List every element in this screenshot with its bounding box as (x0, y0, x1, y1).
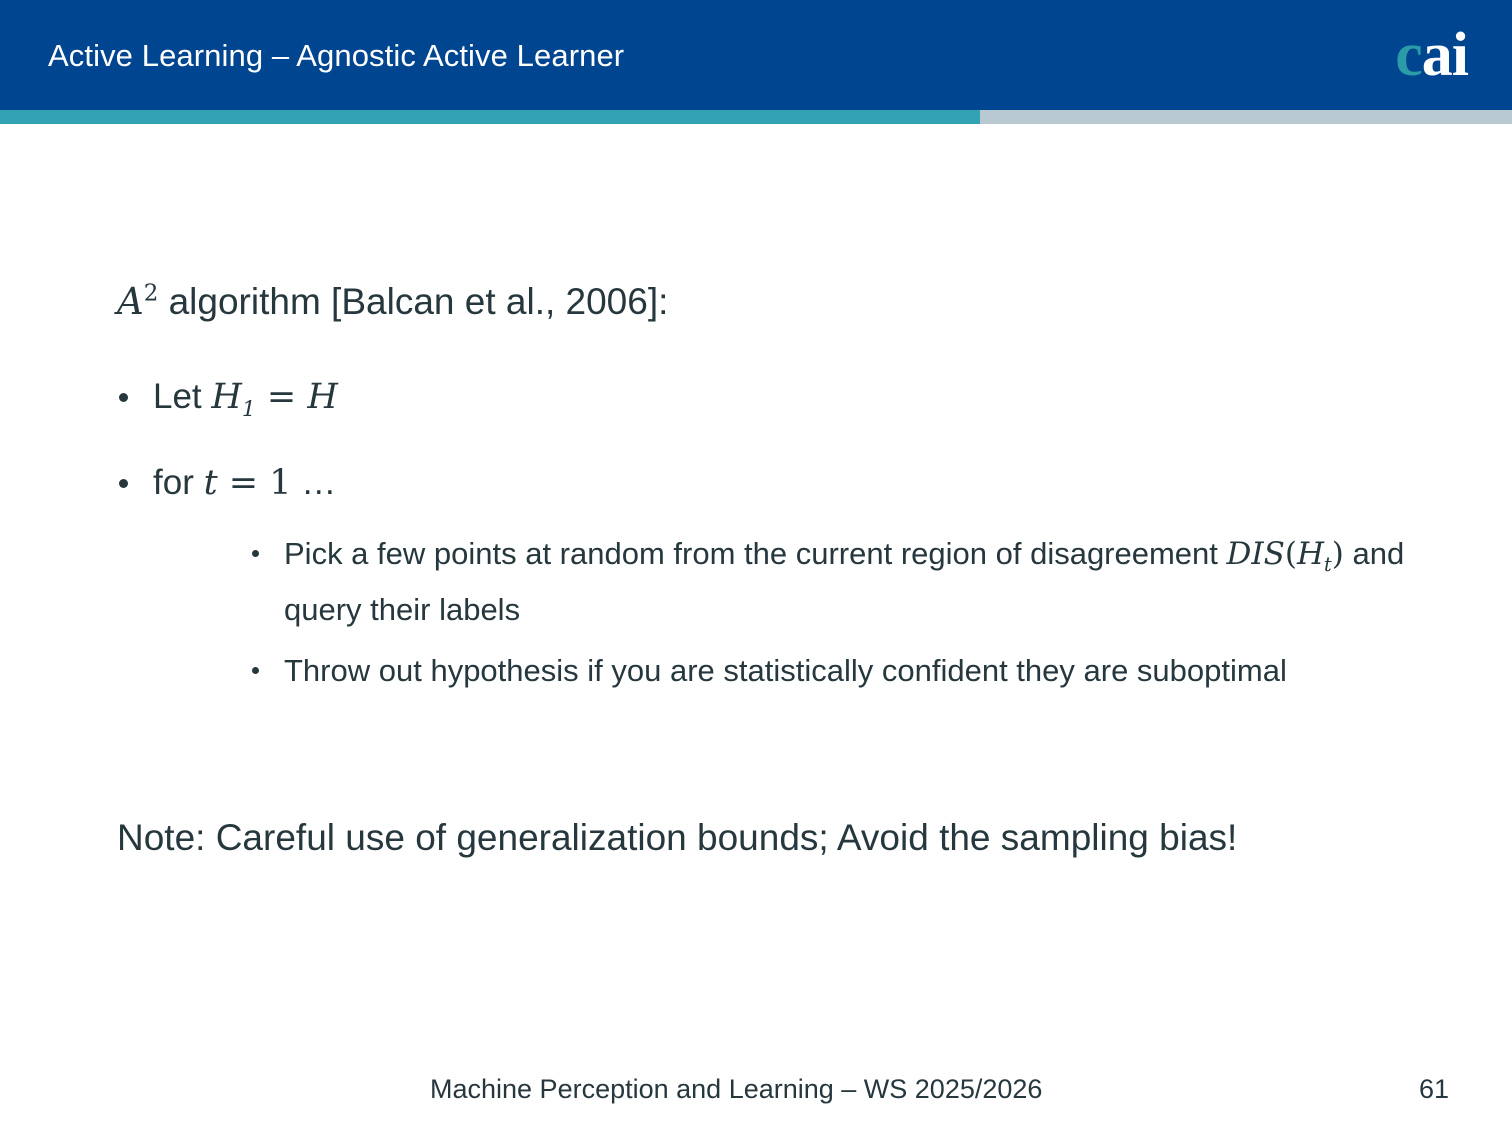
logo-letters-ai: ai (1422, 21, 1468, 89)
bullet-for-suffix: … (292, 463, 337, 502)
lead-superscript: 2 (144, 281, 159, 307)
sub-bullet-item-pick: Pick a few points at random from the cur… (153, 526, 1427, 637)
sub-bullet-item-throw: Throw out hypothesis if you are statisti… (153, 643, 1427, 698)
bullet-item-let: Let H1 = H (117, 374, 1427, 420)
bullet-let-var2: H (307, 377, 338, 417)
bullet-let-operator: = (256, 377, 308, 417)
slide: Active Learning – Agnostic Active Learne… (0, 0, 1512, 1134)
sub-bullet-pick-paren-close: ) (1332, 536, 1344, 572)
bullet-dot-icon (119, 393, 128, 402)
bullet-for-number: 1 (269, 463, 291, 503)
bullet-dot-icon (119, 479, 128, 488)
sub-bullet-dot-icon (252, 667, 259, 674)
note-paragraph: Note: Careful use of generalization boun… (117, 807, 1417, 869)
sub-bullet-throw-text: Throw out hypothesis if you are statisti… (284, 653, 1287, 688)
sub-bullet-pick-subscript: t (1324, 553, 1332, 576)
slide-body: A2 algorithm [Balcan et al., 2006]: Let … (0, 124, 1512, 1034)
accent-bar-teal (0, 110, 980, 124)
slide-title: Active Learning – Agnostic Active Learne… (48, 38, 624, 74)
bullet-item-for: for t = 1 … Pick a few points at random … (117, 460, 1427, 698)
lead-statement: A2 algorithm [Balcan et al., 2006]: (117, 279, 668, 325)
bullet-list: Let H1 = H for t = 1 … Pick a few points… (117, 374, 1427, 738)
sub-bullet-pick-var: H (1297, 536, 1324, 572)
sub-bullet-pick-func: DIS (1227, 536, 1285, 572)
sub-bullet-dot-icon (252, 550, 259, 557)
slide-footer: Machine Perception and Learning – WS 202… (0, 1068, 1512, 1120)
accent-bar-gray (980, 110, 1512, 124)
lead-rest-text: algorithm [Balcan et al., 2006]: (158, 281, 668, 322)
bullet-for-prefix: for (153, 463, 204, 502)
bullet-for-operator: = (218, 463, 270, 503)
bullet-let-var: H (211, 377, 242, 417)
cai-logo: cai (1395, 24, 1468, 86)
bullet-for-var: t (204, 463, 218, 503)
bullet-let-prefix: Let (153, 377, 211, 416)
footer-page-number: 61 (1419, 1074, 1449, 1105)
footer-course-title: Machine Perception and Learning – WS 202… (430, 1074, 1042, 1105)
sub-bullet-pick-part1: Pick a few points at random from the cur… (284, 536, 1227, 571)
sub-bullet-list: Pick a few points at random from the cur… (153, 526, 1427, 698)
lead-math-var: A (117, 280, 144, 323)
sub-bullet-pick-paren-open: ( (1285, 536, 1297, 572)
slide-header: Active Learning – Agnostic Active Learne… (0, 0, 1512, 110)
bullet-let-subscript: 1 (242, 397, 256, 422)
logo-letter-c: c (1395, 21, 1422, 89)
